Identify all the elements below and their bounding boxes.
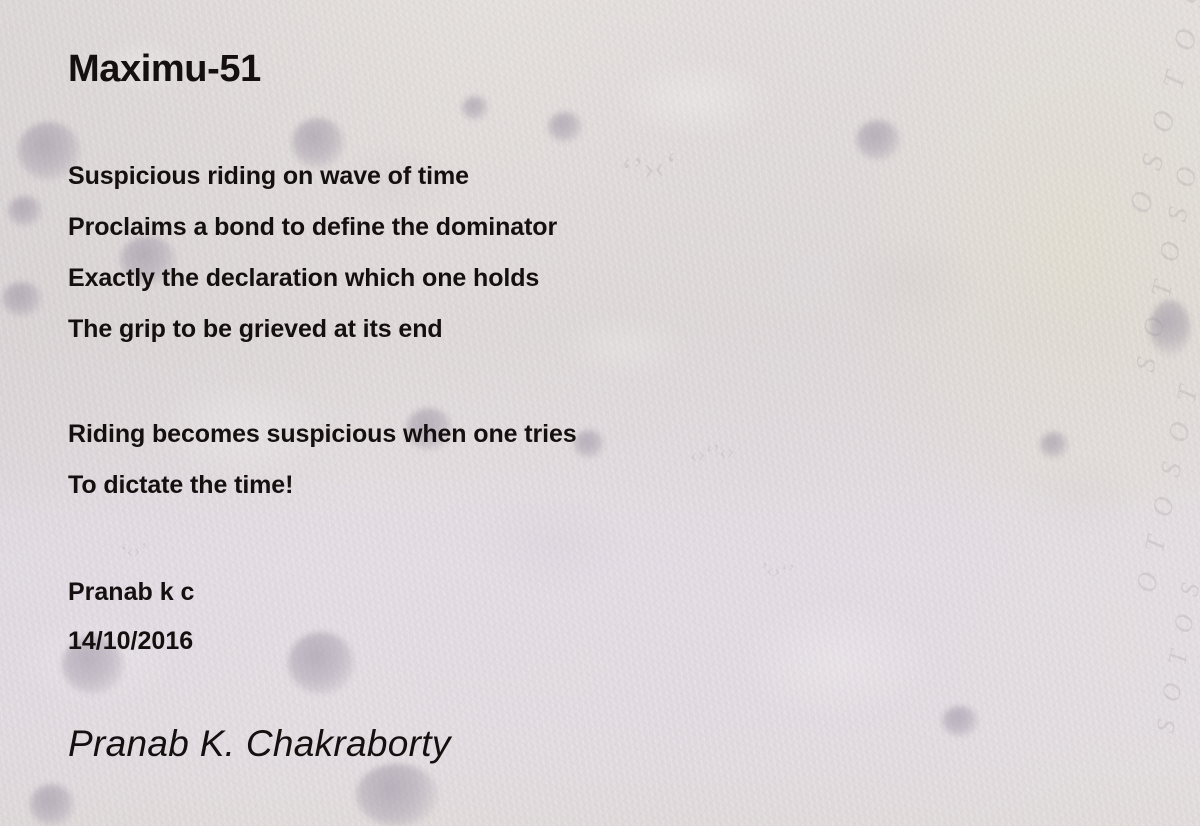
poem-byline: Pranab k c <box>68 578 194 607</box>
poem-image-card: ‘’›‹‘ O S O T O S O S O T O S O O T O S … <box>0 0 1200 826</box>
page-title: Maximu-51 <box>68 48 261 91</box>
poem-line: Proclaims a bond to define the dominator <box>68 213 557 242</box>
poem-line: Exactly the declaration which one holds <box>68 264 539 293</box>
poem-line: The grip to be grieved at its end <box>68 315 443 344</box>
poem-line: Riding becomes suspicious when one tries <box>68 420 577 449</box>
poem-date: 14/10/2016 <box>68 627 193 656</box>
author-signature: Pranab K. Chakraborty <box>68 723 451 765</box>
poem-line: To dictate the time! <box>68 471 293 500</box>
poem-line: Suspicious riding on wave of time <box>68 162 469 191</box>
poem-text-layer: Maximu-51 Suspicious riding on wave of t… <box>0 0 1200 826</box>
